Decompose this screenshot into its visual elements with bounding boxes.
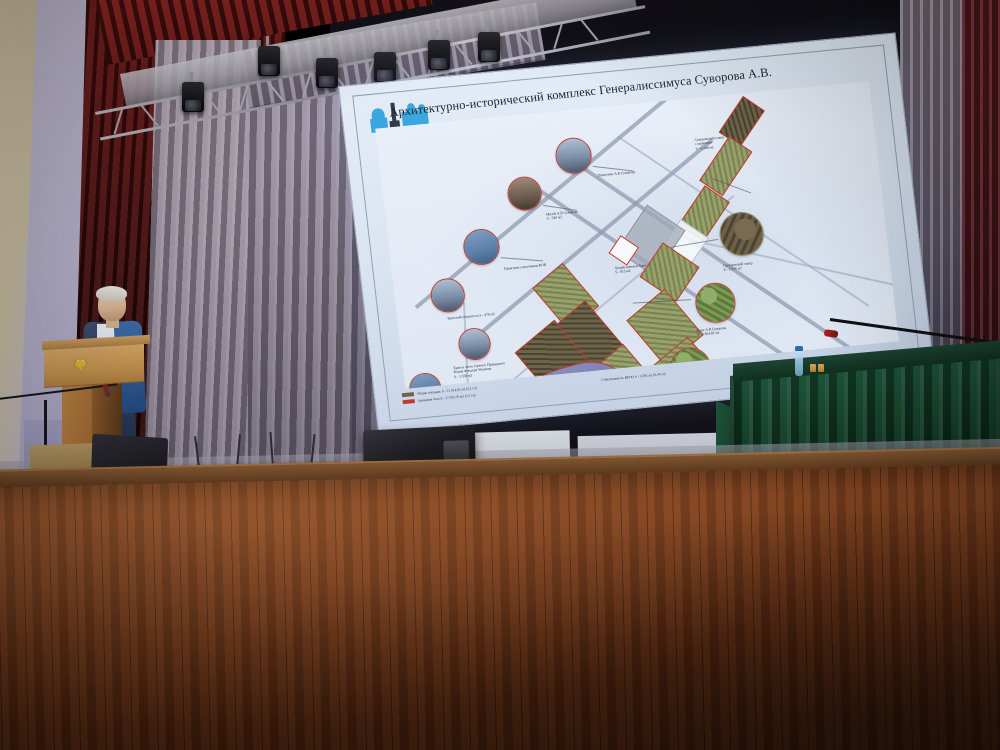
cup bbox=[818, 364, 824, 372]
stage-light-fixture bbox=[374, 52, 396, 82]
stage-light-fixture bbox=[316, 58, 338, 88]
callout-bubble-museum-suvorov[interactable] bbox=[506, 175, 544, 212]
legend-row-vroo-property: Собственность ВРОО S - 3 391 м2 (0,34 га… bbox=[601, 372, 665, 382]
callout-bubble-temple-ushakov[interactable] bbox=[457, 327, 493, 362]
presenter-hair bbox=[96, 286, 127, 301]
stage-light-fixture bbox=[258, 46, 280, 76]
callout-label-suvorov-square-church: Суворовский сквер с церковью S - 5 348 м… bbox=[694, 135, 725, 151]
stage-front-wood-panel bbox=[0, 463, 1000, 750]
callout-bubble-monument-suvorov[interactable] bbox=[554, 136, 594, 175]
callout-bubble-suvorov-square[interactable] bbox=[717, 210, 766, 258]
truss-web bbox=[239, 85, 249, 110]
truss-web bbox=[204, 93, 222, 114]
stage-light-fixture bbox=[428, 40, 450, 70]
callout-bubble-monument-wwii[interactable] bbox=[461, 227, 501, 266]
water-bottle bbox=[795, 350, 803, 376]
truss-web bbox=[518, 32, 536, 53]
truss-web bbox=[455, 44, 473, 65]
truss-web bbox=[553, 24, 563, 49]
callout-bubble-fraternal-necropolis[interactable] bbox=[429, 277, 467, 314]
callout-bubble-suvorov-pond[interactable] bbox=[408, 372, 444, 389]
truss-web bbox=[302, 72, 312, 97]
site-plan-map: Памятник А.В.Суворову Музей А.В.Суворова… bbox=[375, 81, 899, 389]
bottle-cap bbox=[795, 346, 803, 351]
stage-light-fixture bbox=[478, 32, 500, 62]
auditorium-stage-photo: Архитектурно-исторический комплекс Генер… bbox=[0, 0, 1000, 750]
truss-web bbox=[266, 80, 284, 101]
callout-bubble-suvorov-park[interactable] bbox=[693, 281, 737, 325]
cup bbox=[810, 364, 816, 372]
russian-coat-of-arms-emblem bbox=[72, 356, 89, 373]
truss-web bbox=[141, 105, 159, 126]
stage-light-fixture bbox=[182, 82, 204, 112]
legend-text: Собственность ВРОО S - 3 391 м2 (0,34 га… bbox=[601, 372, 665, 382]
legend-swatch bbox=[403, 399, 415, 403]
truss-web bbox=[581, 19, 599, 40]
truss-web bbox=[114, 109, 124, 134]
legend-swatch bbox=[402, 393, 414, 397]
